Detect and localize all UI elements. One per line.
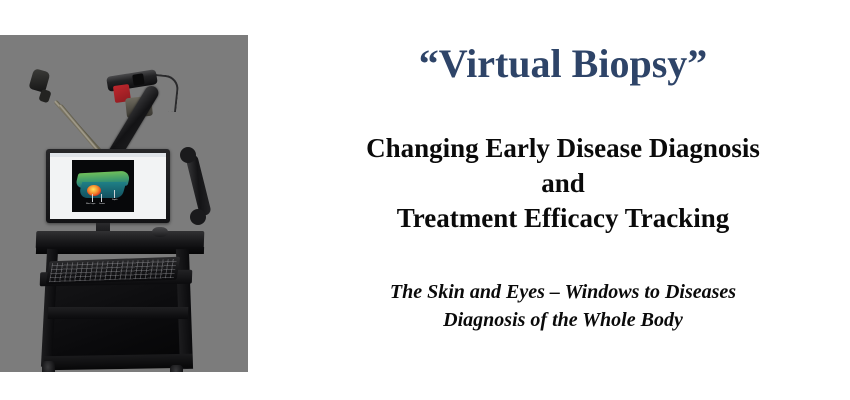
- slide-canvas: Skin Layer Lesion Depth: [0, 0, 850, 400]
- cart-middle-shelf: [48, 307, 189, 319]
- monitor-screen: Skin Layer Lesion Depth: [50, 153, 166, 219]
- lesion-hotspot: [87, 185, 101, 196]
- monitor: Skin Layer Lesion Depth: [46, 149, 170, 223]
- photo-stage: Skin Layer Lesion Depth: [0, 35, 248, 372]
- subtitle-line-2: and: [276, 166, 850, 201]
- tagline-line-1: The Skin and Eyes – Windows to Diseases: [276, 278, 850, 306]
- viz-label-1: Skin Layer: [86, 203, 95, 206]
- arm-joint-base: [190, 209, 206, 225]
- text-panel: “Virtual Biopsy” Changing Early Disease …: [276, 0, 850, 400]
- medical-imaging-cart-photo: Skin Layer Lesion Depth: [0, 35, 248, 372]
- viz-tick-3: [114, 190, 115, 198]
- viz-label-3: Depth: [112, 199, 117, 202]
- caster-wheel-left: [42, 361, 55, 372]
- tagline-block: The Skin and Eyes – Windows to Diseases …: [276, 278, 850, 334]
- probe-joint: [38, 89, 51, 104]
- page-title: “Virtual Biopsy”: [276, 40, 850, 88]
- caster-wheel-right: [170, 365, 183, 372]
- viz-tick-1: [92, 194, 93, 202]
- subtitle-line-1: Changing Early Disease Diagnosis: [276, 131, 850, 166]
- keyboard: [46, 257, 180, 285]
- screen-titlebar: [50, 153, 166, 157]
- keyboard-keys: [49, 259, 177, 282]
- tagline-line-2: Diagnosis of the Whole Body: [276, 306, 850, 334]
- tissue-depth-body: [78, 182, 127, 198]
- viz-label-2: Lesion: [99, 203, 105, 206]
- tissue-visualization: Skin Layer Lesion Depth: [72, 160, 134, 212]
- subtitle-line-3: Treatment Efficacy Tracking: [276, 201, 850, 236]
- probe-camera-head-icon: [28, 68, 50, 93]
- viz-tick-2: [101, 194, 102, 202]
- articulated-arm-lower: [185, 154, 212, 217]
- arm-joint-elbow: [180, 147, 196, 163]
- computer-mouse: [152, 227, 168, 237]
- cart-side-panel: [49, 283, 188, 365]
- subtitle-block: Changing Early Disease Diagnosis and Tre…: [276, 131, 850, 236]
